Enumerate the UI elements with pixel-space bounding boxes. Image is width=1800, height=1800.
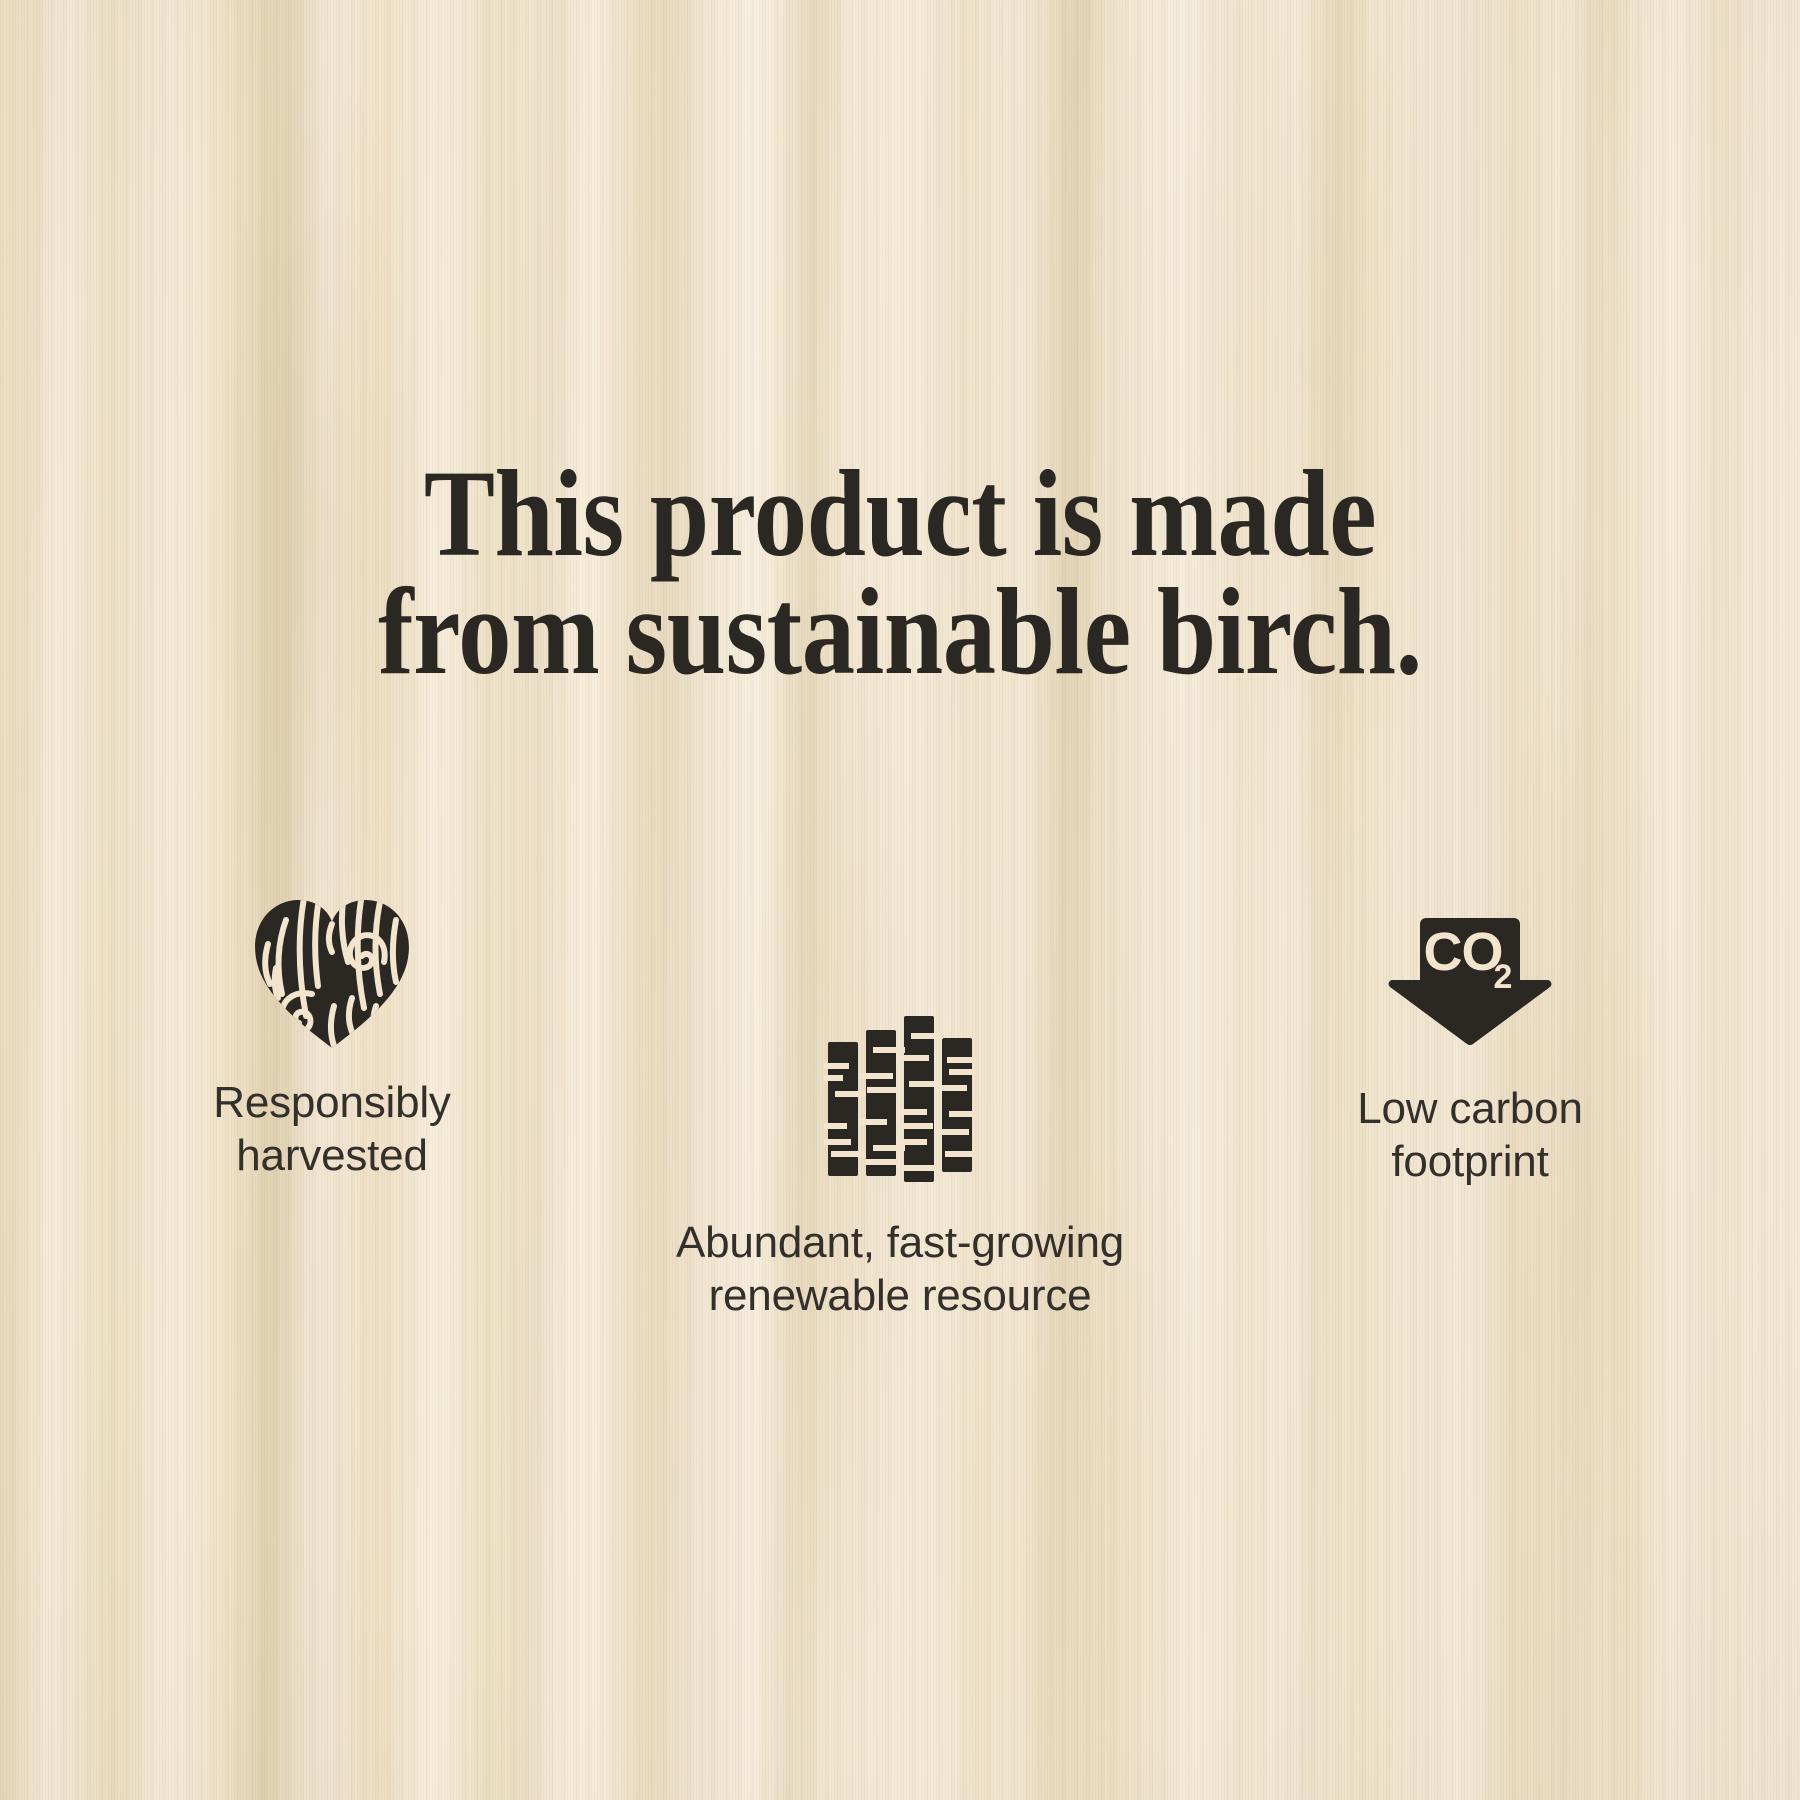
co2-down-arrow-icon: CO 2	[1387, 914, 1553, 1050]
headline: This product is made from sustainable bi…	[126, 455, 1674, 691]
birch-trees-icon	[824, 1014, 976, 1186]
headline-line-2: from sustainable birch.	[126, 573, 1674, 691]
feature-low-carbon-footprint: CO 2 Low carbon footprint	[1230, 900, 1710, 1188]
co2-icon-subscript: 2	[1494, 958, 1513, 996]
feature-list: Responsibly harvested	[0, 880, 1800, 1360]
feature-icon-slot	[92, 880, 572, 1050]
co2-icon-label: CO	[1424, 922, 1503, 982]
headline-line-1: This product is made	[126, 455, 1674, 573]
sustainable-birch-poster: This product is made from sustainable bi…	[0, 0, 1800, 1800]
feature-caption: Low carbon footprint	[1230, 1082, 1710, 1188]
feature-renewable-resource: Abundant, fast-growing renewable resourc…	[640, 1010, 1160, 1322]
feature-icon-slot	[640, 1010, 1160, 1186]
feature-responsibly-harvested: Responsibly harvested	[92, 880, 572, 1182]
wood-grain-heart-icon	[252, 898, 412, 1050]
feature-caption: Abundant, fast-growing renewable resourc…	[640, 1216, 1160, 1322]
feature-caption: Responsibly harvested	[92, 1076, 572, 1182]
poster-content: This product is made from sustainable bi…	[0, 0, 1800, 1800]
feature-icon-slot: CO 2	[1230, 900, 1710, 1050]
